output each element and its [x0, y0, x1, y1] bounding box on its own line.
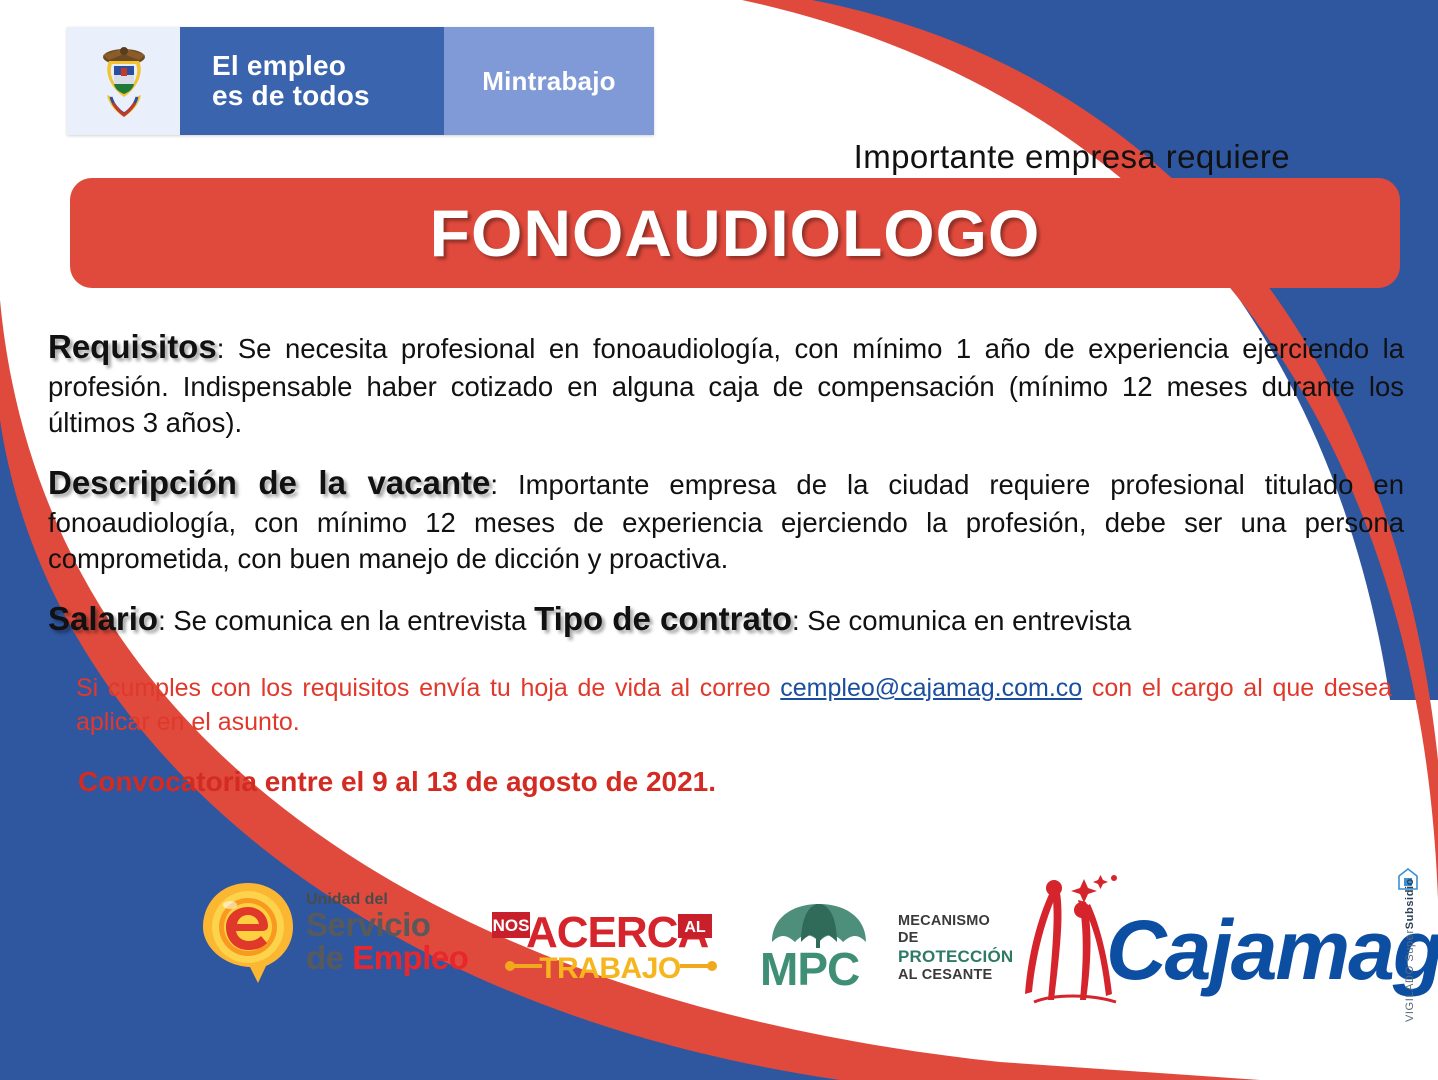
svg-text:TRABAJO: TRABAJO: [539, 952, 681, 980]
job-title-banner: FONOAUDIOLOGO: [70, 178, 1400, 288]
mpc-wordmark: MECANISMO DE PROTECCIÓN AL CESANTE: [898, 913, 1013, 990]
contract-label: Tipo de contrato: [534, 600, 792, 637]
umbrella-icon: [760, 900, 878, 948]
requirements-text: Se necesita profesional en fonoaudiologí…: [48, 333, 1404, 438]
description-label: Descripción de la vacante: [48, 464, 490, 501]
salary-separator: :: [158, 605, 173, 636]
gov-slogan-line1: El empleo: [212, 51, 370, 81]
coat-of-arms-container: [67, 27, 180, 135]
job-posting-poster: El empleo es de todos Mintrabajo Importa…: [0, 0, 1438, 1080]
contract-separator: :: [792, 605, 807, 636]
supervision-bold: Subsidio: [1404, 878, 1416, 929]
contact-text-before: Si cumples con los requisitos envía tu h…: [76, 674, 780, 702]
mpc-abbreviation: MPC: [760, 948, 878, 990]
servicio-empleo-line3-accent: Empleo: [352, 939, 468, 976]
convocation-dates: Convocatoria entre el 9 al 13 de agosto …: [78, 766, 716, 798]
eyebrow-text: Importante empresa requiere: [854, 138, 1290, 176]
nos-acerca-nos: NOS: [493, 916, 530, 935]
page-title: FONOAUDIOLOGO: [430, 195, 1041, 271]
servicio-empleo-line3-prefix: de: [306, 939, 352, 976]
government-slogan: El empleo es de todos: [180, 27, 444, 135]
colombia-coat-of-arms-icon: [95, 39, 153, 123]
nos-acerca-graphic: NOS ACERCA AL TRABAJO: [490, 890, 730, 980]
requirements-separator: :: [217, 333, 238, 364]
nos-acerca-logo: NOS ACERCA AL TRABAJO ACERCA AL TRABAJO: [490, 890, 730, 980]
contact-instructions: Si cumples con los requisitos envía tu h…: [76, 672, 1392, 740]
requirements-label: Requisitos: [48, 328, 217, 365]
cajamag-wordmark: Cajamag: [1106, 902, 1438, 999]
mpc-logo: MPC MECANISMO DE PROTECCIÓN AL CESANTE: [760, 880, 990, 990]
cajamag-logo: Cajamag VIGILADO SuperSubsidio: [1020, 868, 1420, 1018]
servicio-empleo-logo: Unidad del Servicio de Empleo: [200, 878, 480, 988]
top-right-red-arc: [742, 0, 1438, 900]
gov-slogan-line2: es de todos: [212, 81, 370, 111]
svg-text:AL: AL: [684, 919, 706, 936]
description-section: Descripción de la vacante: Importante em…: [48, 462, 1404, 576]
mpc-line2: PROTECCIÓN: [898, 947, 1013, 967]
supervision-label: VIGILADO SuperSubsidio: [1404, 878, 1416, 1022]
servicio-empleo-line2: Servicio: [306, 908, 468, 941]
salary-section: Salario: Se comunica en la entrevista Ti…: [48, 598, 1404, 641]
mpc-line3: AL CESANTE: [898, 967, 1013, 984]
mpc-left-block: MPC: [760, 900, 878, 990]
servicio-empleo-wordmark: Unidad del Servicio de Empleo: [306, 892, 468, 974]
contract-text: Se comunica en entrevista: [807, 605, 1131, 636]
requirements-section: Requisitos: Se necesita profesional en f…: [48, 326, 1404, 440]
mpc-line1: MECANISMO DE: [898, 913, 1013, 947]
salary-text: Se comunica en la entrevista: [173, 605, 534, 636]
footer-logo-row: Unidad del Servicio de Empleo NOS ACERCA…: [0, 868, 1438, 1038]
ministry-label: Mintrabajo: [444, 27, 654, 135]
government-banner: El empleo es de todos Mintrabajo: [67, 27, 654, 135]
email-link[interactable]: cempleo@cajamag.com.co: [780, 674, 1082, 702]
employment-pin-icon: [200, 881, 296, 985]
servicio-empleo-line3: de Empleo: [306, 941, 468, 974]
supervision-prefix: VIGILADO Super: [1404, 929, 1416, 1022]
description-separator: :: [490, 469, 518, 500]
salary-label: Salario: [48, 600, 158, 637]
